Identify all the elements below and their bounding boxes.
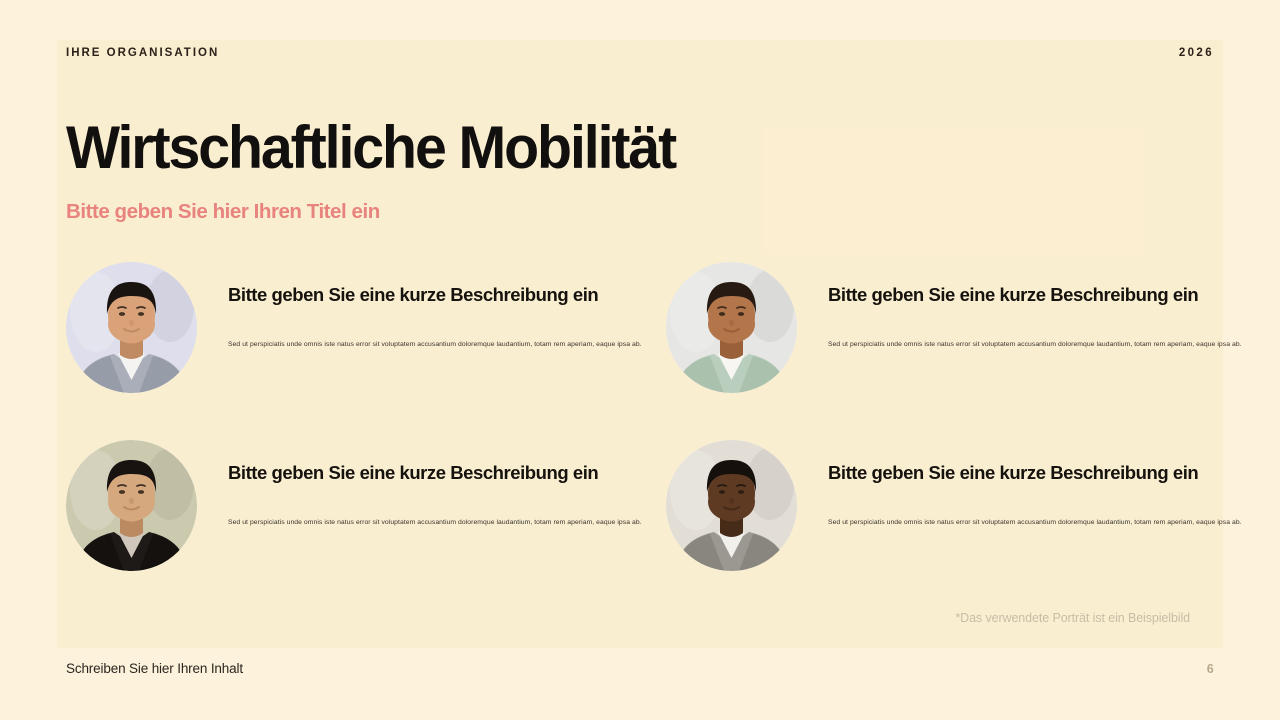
portrait-man-locs-suit — [666, 440, 797, 571]
page-title: Wirtschaftliche Mobilität — [66, 118, 675, 178]
profile-card: Bitte geben Sie eine kurze Beschreibung … — [666, 262, 1214, 408]
profile-card-heading: Bitte geben Sie eine kurze Beschreibung … — [828, 284, 1214, 306]
profile-card-text: Sed ut perspiciatis unde omnis iste natu… — [828, 518, 1214, 527]
year-label: 2026 — [1179, 47, 1214, 59]
profile-card: Bitte geben Sie eine kurze Beschreibung … — [66, 440, 614, 586]
profile-card-text: Sed ut perspiciatis unde omnis iste natu… — [228, 340, 614, 349]
slide-footer: Schreiben Sie hier Ihren Inhalt 6 — [66, 661, 1214, 676]
profile-card-heading: Bitte geben Sie eine kurze Beschreibung … — [228, 462, 614, 484]
footer-note: Schreiben Sie hier Ihren Inhalt — [66, 661, 243, 676]
profile-card-heading: Bitte geben Sie eine kurze Beschreibung … — [828, 462, 1214, 484]
slide-header: IHRE ORGANISATION 2026 — [66, 42, 1214, 64]
organisation-name: IHRE ORGANISATION — [66, 47, 219, 59]
portrait-woman-mint-blazer — [666, 262, 797, 393]
title-block: Wirtschaftliche Mobilität Bitte geben Si… — [66, 118, 704, 224]
portrait-man-locs-suit-graphic — [666, 440, 797, 571]
portrait-man-gray-suit — [66, 262, 197, 393]
profile-card-text: Sed ut perspiciatis unde omnis iste natu… — [828, 340, 1214, 349]
portrait-woman-long-hair-cafe — [66, 440, 197, 571]
portrait-woman-long-hair-cafe-graphic — [66, 440, 197, 571]
page-subtitle: Bitte geben Sie hier Ihren Titel ein — [66, 200, 704, 224]
profile-card-text: Sed ut perspiciatis unde omnis iste natu… — [228, 518, 614, 527]
portrait-man-gray-suit-graphic — [66, 262, 197, 393]
profile-card: Bitte geben Sie eine kurze Beschreibung … — [66, 262, 614, 408]
slide-canvas: IHRE ORGANISATION 2026 Wirtschaftliche M… — [0, 0, 1280, 720]
page-number: 6 — [1207, 662, 1214, 676]
profile-card-heading: Bitte geben Sie eine kurze Beschreibung … — [228, 284, 614, 306]
profile-card-body: Bitte geben Sie eine kurze Beschreibung … — [797, 440, 1214, 527]
profile-card-body: Bitte geben Sie eine kurze Beschreibung … — [197, 440, 614, 527]
profile-card-body: Bitte geben Sie eine kurze Beschreibung … — [197, 262, 614, 349]
profile-card: Bitte geben Sie eine kurze Beschreibung … — [666, 440, 1214, 586]
portrait-disclaimer: *Das verwendete Porträt ist ein Beispiel… — [955, 611, 1190, 625]
portrait-woman-mint-blazer-graphic — [666, 262, 797, 393]
profile-card-grid: Bitte geben Sie eine kurze Beschreibung … — [66, 262, 1214, 586]
profile-card-body: Bitte geben Sie eine kurze Beschreibung … — [797, 262, 1214, 349]
